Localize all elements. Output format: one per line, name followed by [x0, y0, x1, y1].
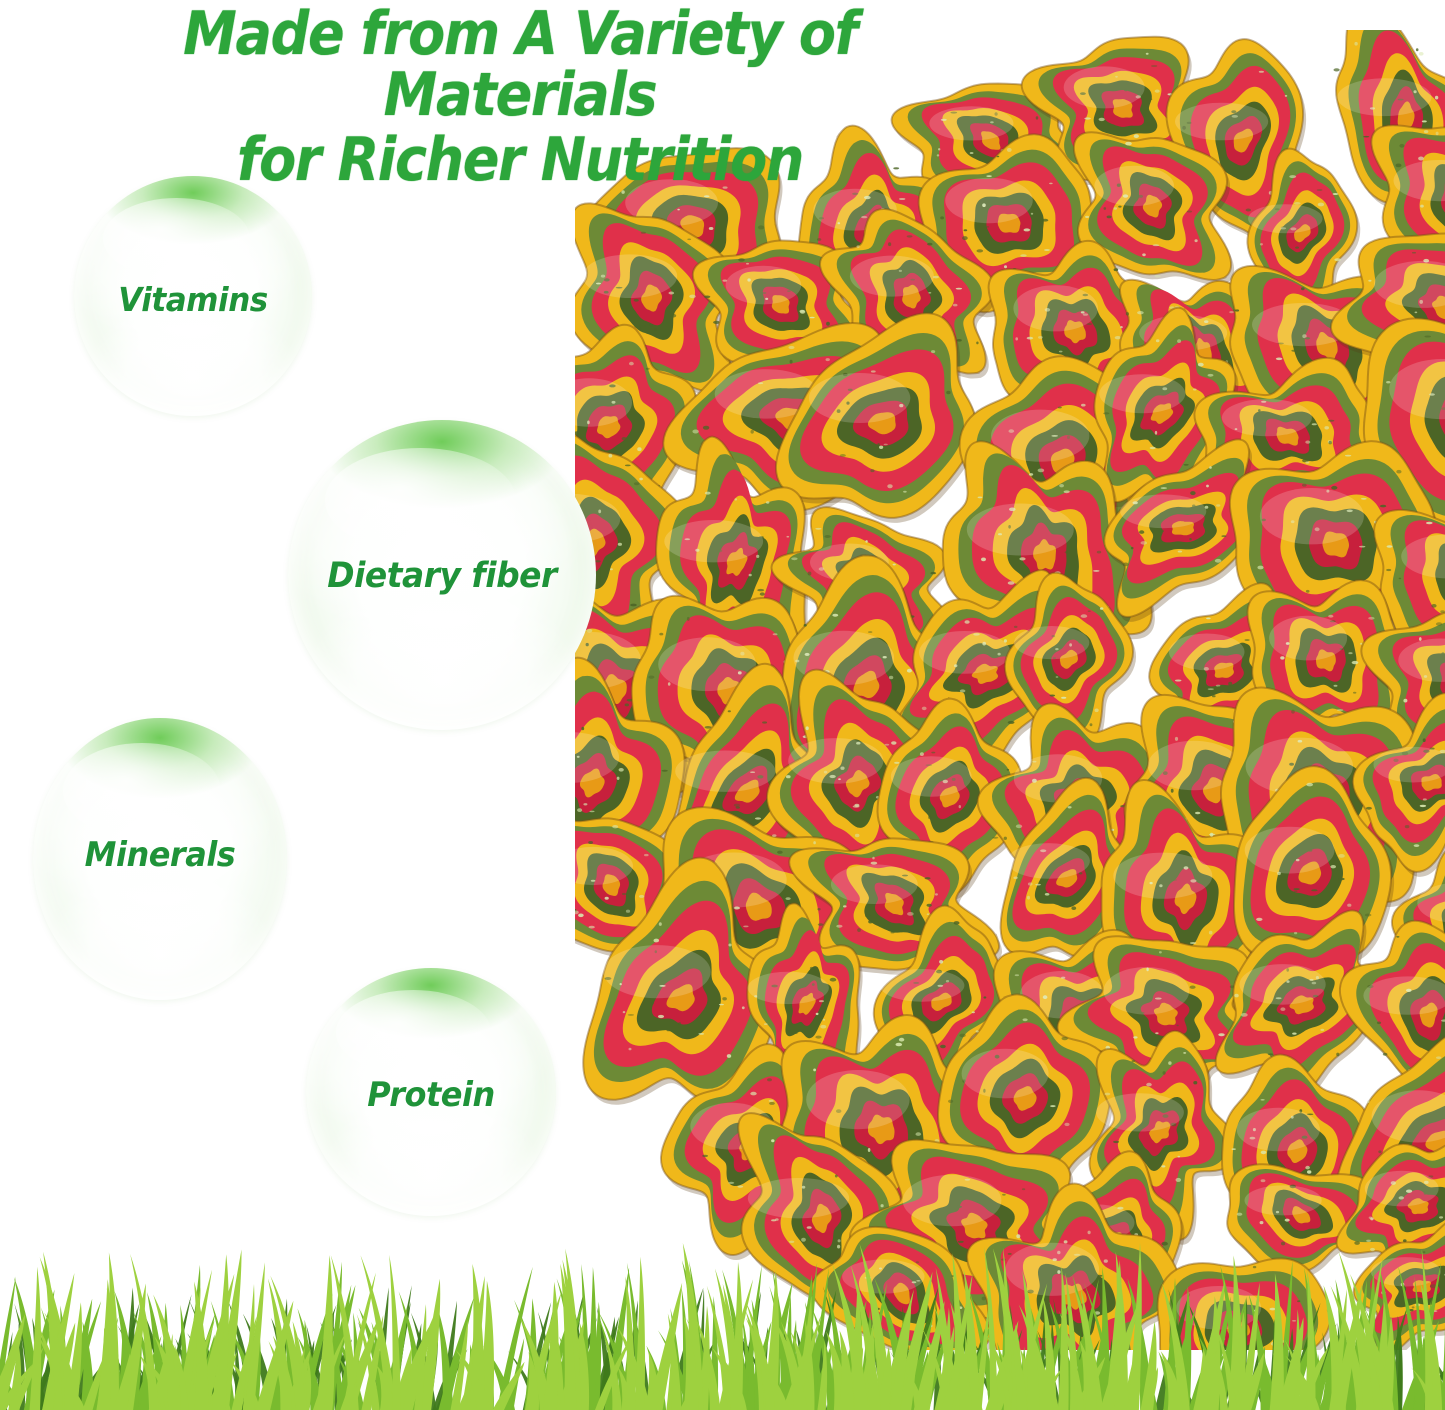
nutrient-bubble-protein: Protein: [306, 968, 556, 1216]
nutrient-bubble-label: Dietary fiber: [297, 556, 587, 596]
nutrient-bubble-label: Protein: [314, 1075, 549, 1115]
nutrient-bubble-vitamins: Vitamins: [74, 176, 312, 416]
grass-blade: [1270, 1273, 1284, 1410]
grass-blade: [30, 1267, 42, 1410]
grass-blade: [244, 1262, 265, 1410]
treat-pile-illustration: [575, 30, 1445, 1350]
nutrient-bubble-dietary-fiber: Dietary fiber: [288, 420, 596, 730]
nutrient-bubble-label: Vitamins: [81, 280, 305, 319]
grass-strip: [0, 1238, 1445, 1410]
grass-illustration: [0, 1238, 1445, 1410]
product-infographic: Made from A Variety of Materials for Ric…: [0, 0, 1445, 1410]
nutrient-bubble-label: Minerals: [41, 835, 280, 875]
nutrient-bubble-minerals: Minerals: [33, 718, 287, 1000]
treat-pile-photo: [575, 30, 1445, 1350]
